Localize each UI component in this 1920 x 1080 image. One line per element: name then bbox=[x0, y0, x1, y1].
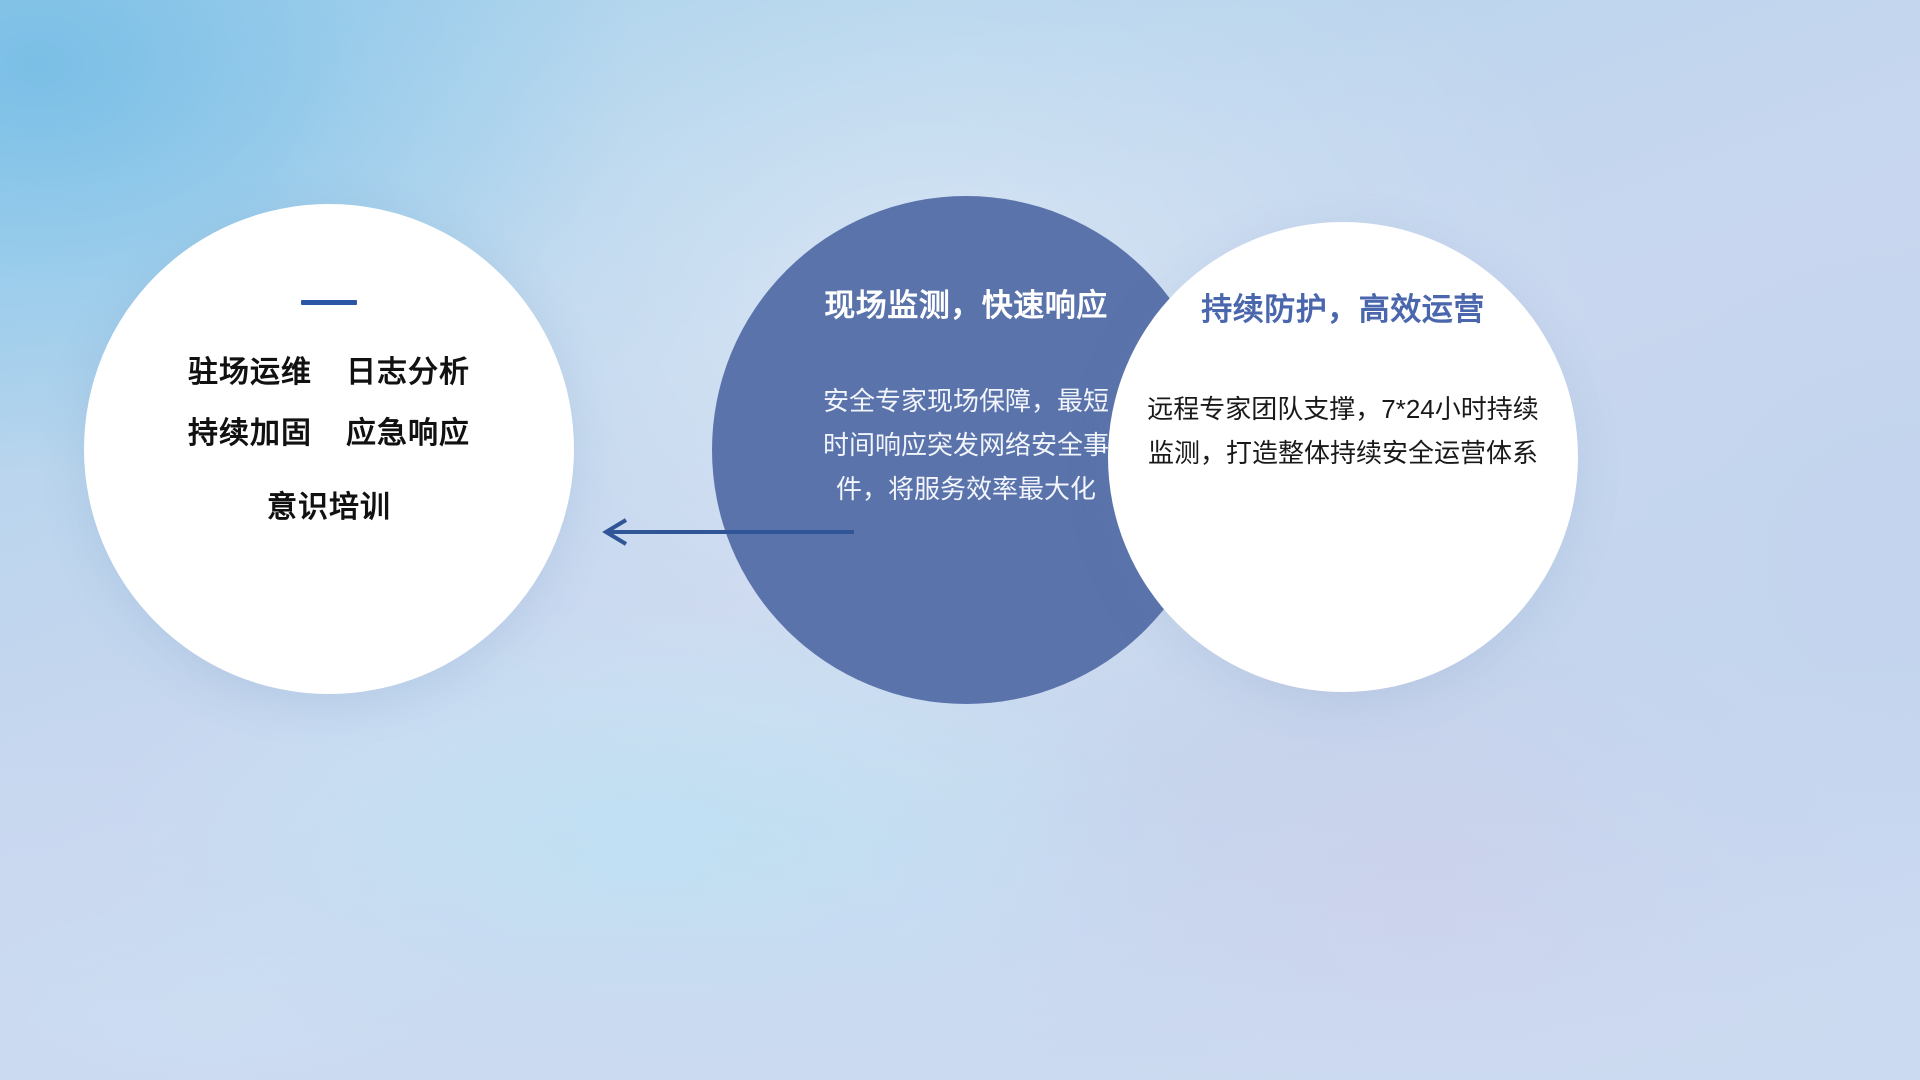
right-circle-title: 持续防护，高效运营 bbox=[1201, 284, 1485, 329]
keyword-row: 持续加固 应急响应 bbox=[188, 416, 470, 451]
keyword-item: 应急响应 bbox=[346, 416, 470, 451]
right-circle-body: 远程专家团队支撑，7*24小时持续监测，打造整体持续安全运营体系 bbox=[1141, 387, 1545, 475]
keyword-item: 日志分析 bbox=[346, 355, 470, 390]
keyword-item: 意识培训 bbox=[267, 490, 391, 525]
keyword-item: 持续加固 bbox=[188, 416, 312, 451]
blue-dash-divider-icon bbox=[301, 300, 357, 305]
keyword-item: 驻场运维 bbox=[188, 355, 312, 390]
middle-circle-body: 安全专家现场保障，最短时间响应突发网络安全事件，将服务效率最大化 bbox=[811, 379, 1121, 512]
middle-circle-title: 现场监测，快速响应 bbox=[824, 280, 1108, 325]
right-circle-content: 持续防护，高效运营 远程专家团队支撑，7*24小时持续监测，打造整体持续安全运营… bbox=[1108, 222, 1578, 692]
left-circle-content: 驻场运维 日志分析 持续加固 应急响应 意识培训 bbox=[84, 204, 574, 694]
slide-canvas: 驻场运维 日志分析 持续加固 应急响应 意识培训 现场监测，快速响应 安全专家现… bbox=[0, 0, 1920, 1080]
keyword-row: 驻场运维 日志分析 bbox=[188, 355, 470, 390]
keyword-row: 意识培训 bbox=[267, 490, 391, 525]
